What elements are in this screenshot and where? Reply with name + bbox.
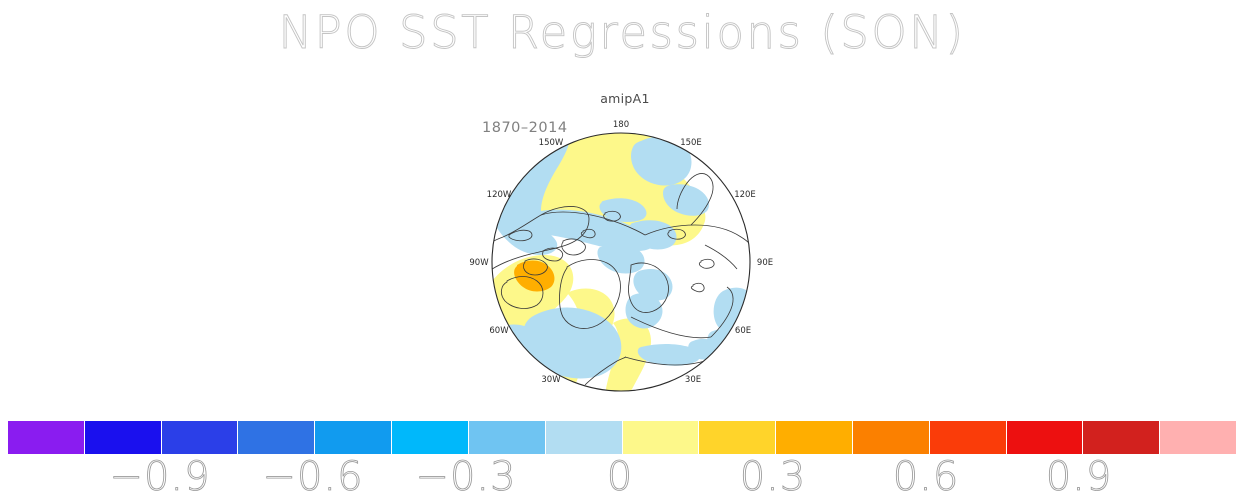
lon-label-120E: 120E — [734, 190, 756, 200]
lon-label-60W: 60W — [489, 326, 509, 336]
colorbar-tick-6: 0.9 — [1046, 454, 1113, 500]
colorbar-cell-12 — [930, 421, 1007, 454]
colorbar-cell-5 — [392, 421, 469, 454]
lon-label-180: 180 — [613, 120, 629, 130]
colorbar-cell-3 — [238, 421, 315, 454]
colorbar-cell-10 — [776, 421, 853, 454]
colorbar-cell-7 — [546, 421, 623, 454]
lon-label-150W: 150W — [539, 138, 564, 148]
lon-label-30E: 30E — [685, 375, 701, 385]
colorbar — [8, 421, 1236, 454]
lon-label-30W: 30W — [541, 375, 561, 385]
colorbar-tick-4: 0.3 — [740, 454, 807, 500]
map-panel: amipA1 1870–2014 — [455, 85, 795, 395]
lon-label-90W: 90W — [469, 258, 489, 268]
colorbar-cells — [8, 421, 1236, 454]
colorbar-tick-1: −0.6 — [262, 454, 363, 500]
colorbar-cell-9 — [699, 421, 776, 454]
colorbar-tick-2: −0.3 — [415, 454, 516, 500]
colorbar-cell-1 — [85, 421, 162, 454]
colorbar-cell-13 — [1007, 421, 1084, 454]
colorbar-cell-15 — [1160, 421, 1236, 454]
colorbar-tick-5: 0.6 — [893, 454, 960, 500]
colorbar-tick-3: 0 — [607, 454, 633, 500]
page-title: NPO SST Regressions (SON) — [0, 6, 1244, 59]
colorbar-cell-2 — [162, 421, 239, 454]
colorbar-cell-0 — [8, 421, 85, 454]
lon-label-90E: 90E — [757, 258, 773, 268]
colorbar-cell-11 — [853, 421, 930, 454]
lon-label-120W: 120W — [487, 190, 512, 200]
polar-stereographic-map: 180 150E 120E 90E 60E 30E 0 30W 60W 90W … — [455, 85, 795, 395]
colorbar-cell-8 — [623, 421, 700, 454]
colorbar-tick-0: −0.9 — [109, 454, 210, 500]
colorbar-cell-6 — [469, 421, 546, 454]
colorbar-cell-4 — [315, 421, 392, 454]
lon-label-60E: 60E — [735, 326, 751, 336]
colorbar-cell-14 — [1083, 421, 1160, 454]
lon-label-150E: 150E — [680, 138, 702, 148]
colorbar-tick-labels: −0.9−0.6−0.300.30.60.9 — [0, 454, 1244, 502]
